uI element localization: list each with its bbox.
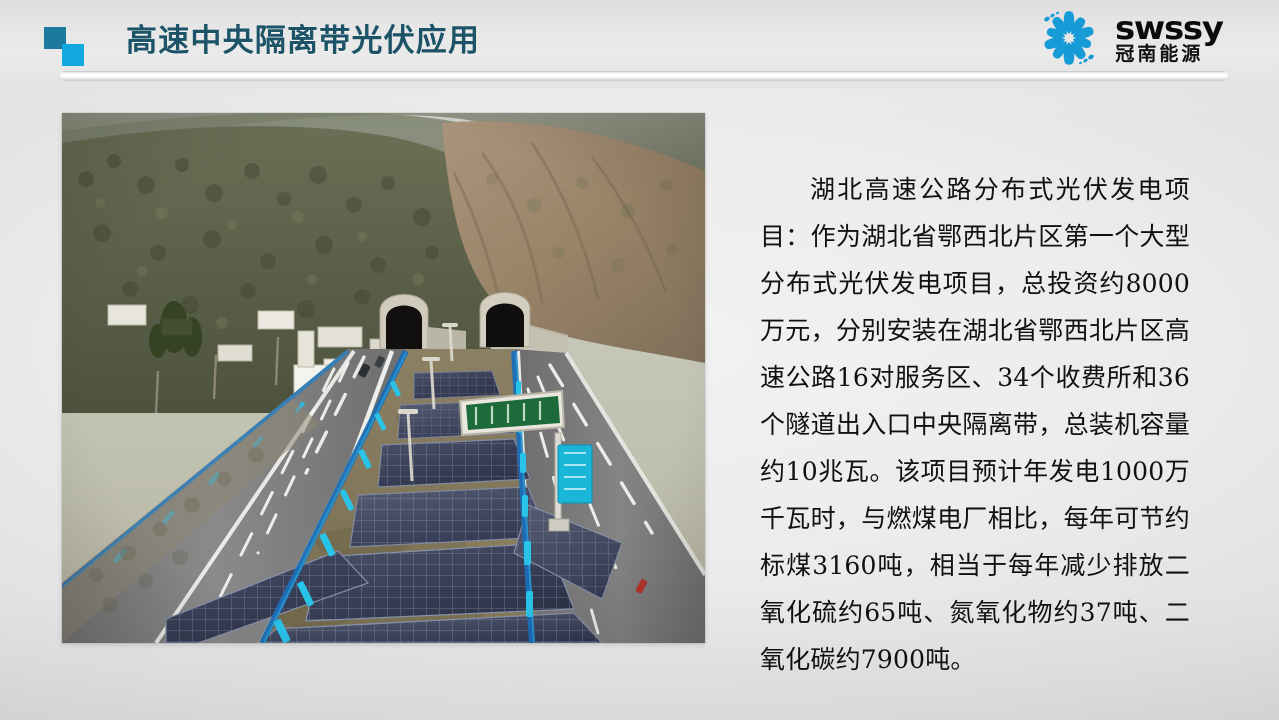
description-panel: 湖北高速公路分布式光伏发电项目：作为湖北省鄂西北片区第一个大型分布式光伏发电项目… (760, 166, 1190, 683)
page-title: 高速中央隔离带光伏应用 (126, 20, 480, 62)
swssy-petal-flower-icon (1033, 7, 1105, 71)
logo-wordmark: swssy 冠南能源 (1115, 13, 1217, 66)
header-divider-rule (60, 71, 1228, 80)
slide-root: 高速中央隔离带光伏应用 (0, 0, 1279, 720)
project-photo (62, 113, 705, 643)
logo-latin-text: swssy (1115, 13, 1223, 43)
project-description-paragraph: 湖北高速公路分布式光伏发电项目：作为湖北省鄂西北片区第一个大型分布式光伏发电项目… (760, 166, 1190, 683)
header-decoration-square-bright (62, 44, 84, 66)
logo-chinese-text: 冠南能源 (1115, 44, 1203, 66)
company-logo: swssy 冠南能源 (1033, 6, 1217, 72)
photo-artwork (62, 113, 705, 643)
